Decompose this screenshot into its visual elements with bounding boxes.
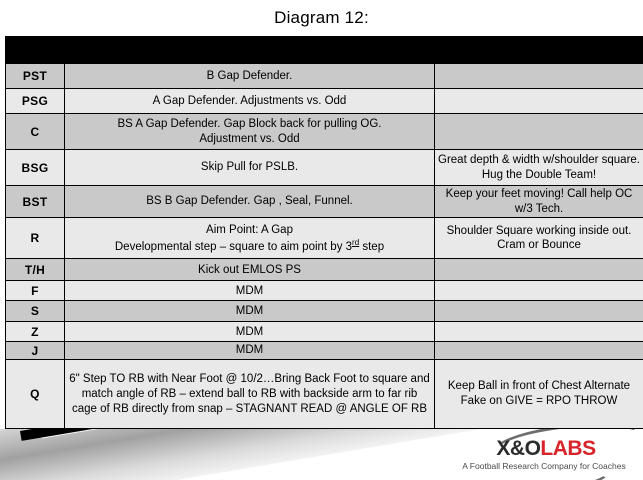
cell-assignment-rules: A Gap Defender. Adjustments vs. Odd	[65, 89, 435, 114]
cell-assignment-rules: BS B Gap Defender. Gap , Seal, Funnel.	[65, 186, 435, 218]
logo-labs-text: LABS	[540, 437, 595, 460]
cell-assignment-rules: BS A Gap Defender. Gap Block back for pu…	[65, 114, 435, 150]
cell-coaching-points	[435, 89, 643, 114]
cell-coaching-points	[435, 114, 643, 150]
cell-position: Z	[6, 322, 65, 342]
xo-labs-logo: X&OLABS A Football Research Company for …	[435, 433, 635, 479]
cell-coaching-points: Shoulder Square working inside out. Cram…	[435, 218, 643, 259]
column-header-assignment-rules: ASSIGNMENT RULES	[65, 37, 435, 64]
table-row: ZMDM	[6, 322, 643, 342]
cell-coaching-points: Keep your feet moving! Call help OC w/3 …	[435, 186, 643, 218]
table-body: PSTB Gap Defender.PSGA Gap Defender. Adj…	[6, 64, 643, 429]
cell-coaching-points	[435, 322, 643, 342]
cell-coaching-points: Great depth & width w/shoulder square. H…	[435, 150, 643, 186]
logo-tagline: A Football Research Company for Coaches	[449, 461, 639, 471]
table-row: BSTBS B Gap Defender. Gap , Seal, Funnel…	[6, 186, 643, 218]
cell-assignment-rules: B Gap Defender.	[65, 64, 435, 89]
table-row: Q6" Step TO RB with Near Foot @ 10/2…Bri…	[6, 360, 643, 429]
cell-assignment-rules: MDM	[65, 281, 435, 301]
table-row: RAim Point: A GapDevelopmental step – sq…	[6, 218, 643, 259]
cell-position: Q	[6, 360, 65, 429]
table-row: SMDM	[6, 301, 643, 322]
cell-position: PSG	[6, 89, 65, 114]
cell-position: R	[6, 218, 65, 259]
column-header-pos: POS	[6, 37, 65, 64]
cell-position: J	[6, 342, 65, 360]
cell-position: C	[6, 114, 65, 150]
cell-coaching-points	[435, 64, 643, 89]
cell-coaching-points	[435, 281, 643, 301]
table-row: CBS A Gap Defender. Gap Block back for p…	[6, 114, 643, 150]
table-row: PSTB Gap Defender.	[6, 64, 643, 89]
cell-coaching-points	[435, 301, 643, 322]
cell-assignment-rules: Aim Point: A GapDevelopmental step – squ…	[65, 218, 435, 259]
table-row: PSGA Gap Defender. Adjustments vs. Odd	[6, 89, 643, 114]
table-row: BSGSkip Pull for PSLB.Great depth & widt…	[6, 150, 643, 186]
table-row: FMDM	[6, 281, 643, 301]
cell-position: T/H	[6, 259, 65, 281]
table-header-row: POS ASSIGNMENT RULES COACHING POINTS	[6, 37, 643, 64]
cell-coaching-points: Keep Ball in front of Chest Alternate Fa…	[435, 360, 643, 429]
cell-assignment-rules: MDM	[65, 342, 435, 360]
cell-assignment-rules: 6" Step TO RB with Near Foot @ 10/2…Brin…	[65, 360, 435, 429]
playbook-table-container: POS ASSIGNMENT RULES COACHING POINTS PST…	[5, 36, 643, 429]
cell-position: BSG	[6, 150, 65, 186]
cell-coaching-points	[435, 259, 643, 281]
cell-coaching-points	[435, 342, 643, 360]
cell-position: F	[6, 281, 65, 301]
cell-position: PST	[6, 64, 65, 89]
table-row: T/HKick out EMLOS PS	[6, 259, 643, 281]
table-row: JMDM	[6, 342, 643, 360]
cell-position: BST	[6, 186, 65, 218]
logo-xo-text: X&O	[496, 437, 540, 460]
cell-position: S	[6, 301, 65, 322]
page-title: Diagram 12:	[0, 0, 643, 34]
logo-wordmark: X&OLABS	[457, 437, 635, 461]
cell-assignment-rules: Kick out EMLOS PS	[65, 259, 435, 281]
cell-assignment-rules: Skip Pull for PSLB.	[65, 150, 435, 186]
cell-assignment-rules: MDM	[65, 301, 435, 322]
assignment-rules-table: POS ASSIGNMENT RULES COACHING POINTS PST…	[5, 36, 643, 429]
cell-assignment-rules: MDM	[65, 322, 435, 342]
column-header-coaching-points: COACHING POINTS	[435, 37, 643, 64]
footer-banner: X&OLABS A Football Research Company for …	[0, 429, 643, 480]
